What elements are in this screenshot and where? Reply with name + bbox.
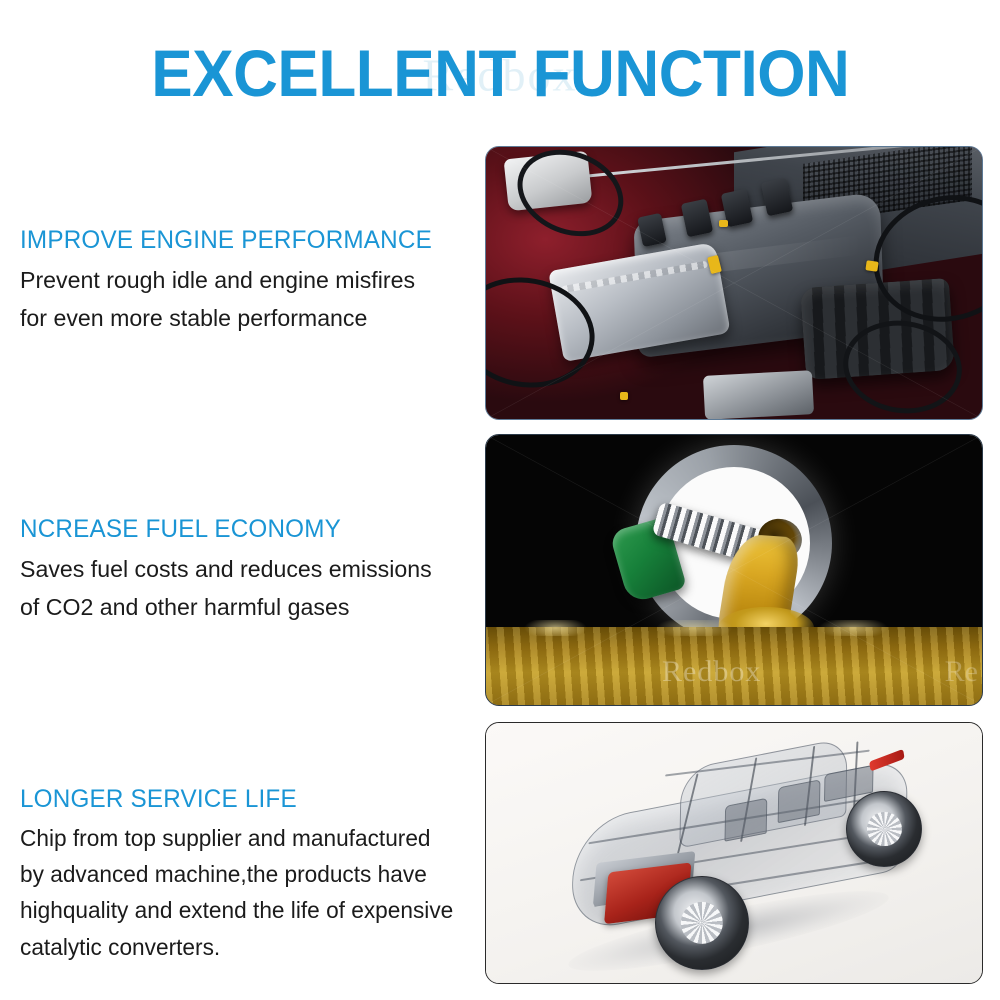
feature-1-heading: IMPROVE ENGINE PERFORMANCE (20, 226, 476, 255)
image-watermark: Redbox (662, 655, 761, 689)
feature-2-body-line-1: Saves fuel costs and reduces emissions (20, 550, 483, 588)
xray-car-photo (485, 722, 983, 984)
xray-car-illustration (486, 723, 982, 983)
image-watermark-secondary: Re (945, 655, 978, 689)
feature-3-body-line-2: by advanced machine,the products have (20, 856, 483, 892)
feature-2-body-line-2: of CO2 and other harmful gases (20, 588, 483, 626)
feature-1-body-line-2: for even more stable performance (20, 299, 483, 337)
engine-bay-illustration (486, 147, 982, 419)
feature-block-2: NCREASE FUEL ECONOMY Saves fuel costs an… (20, 515, 490, 626)
feature-block-1: IMPROVE ENGINE PERFORMANCE Prevent rough… (20, 226, 490, 337)
fuel-nozzle-illustration: Redbox Re (486, 435, 982, 705)
feature-3-body-line-1: Chip from top supplier and manufactured (20, 820, 483, 856)
feature-3-body-line-3: highquality and extend the life of expen… (20, 892, 483, 928)
engine-bay-photo (485, 146, 983, 420)
fuel-nozzle-photo: Redbox Re (485, 434, 983, 706)
page-header: Redbox EXCELLENT FUNCTION (0, 28, 1000, 118)
product-feature-page: Redbox EXCELLENT FUNCTION IMPROVE ENGINE… (0, 0, 1000, 1000)
feature-3-heading: LONGER SERVICE LIFE (20, 785, 476, 814)
feature-1-body: Prevent rough idle and engine misfires f… (20, 261, 483, 337)
feature-1-body-line-1: Prevent rough idle and engine misfires (20, 261, 483, 299)
page-title: EXCELLENT FUNCTION (151, 40, 849, 106)
feature-block-3: LONGER SERVICE LIFE Chip from top suppli… (20, 785, 490, 965)
feature-3-body: Chip from top supplier and manufactured … (20, 820, 483, 965)
feature-2-body: Saves fuel costs and reduces emissions o… (20, 550, 483, 626)
feature-3-body-line-4: catalytic converters. (20, 929, 483, 965)
feature-2-heading: NCREASE FUEL ECONOMY (20, 515, 476, 544)
